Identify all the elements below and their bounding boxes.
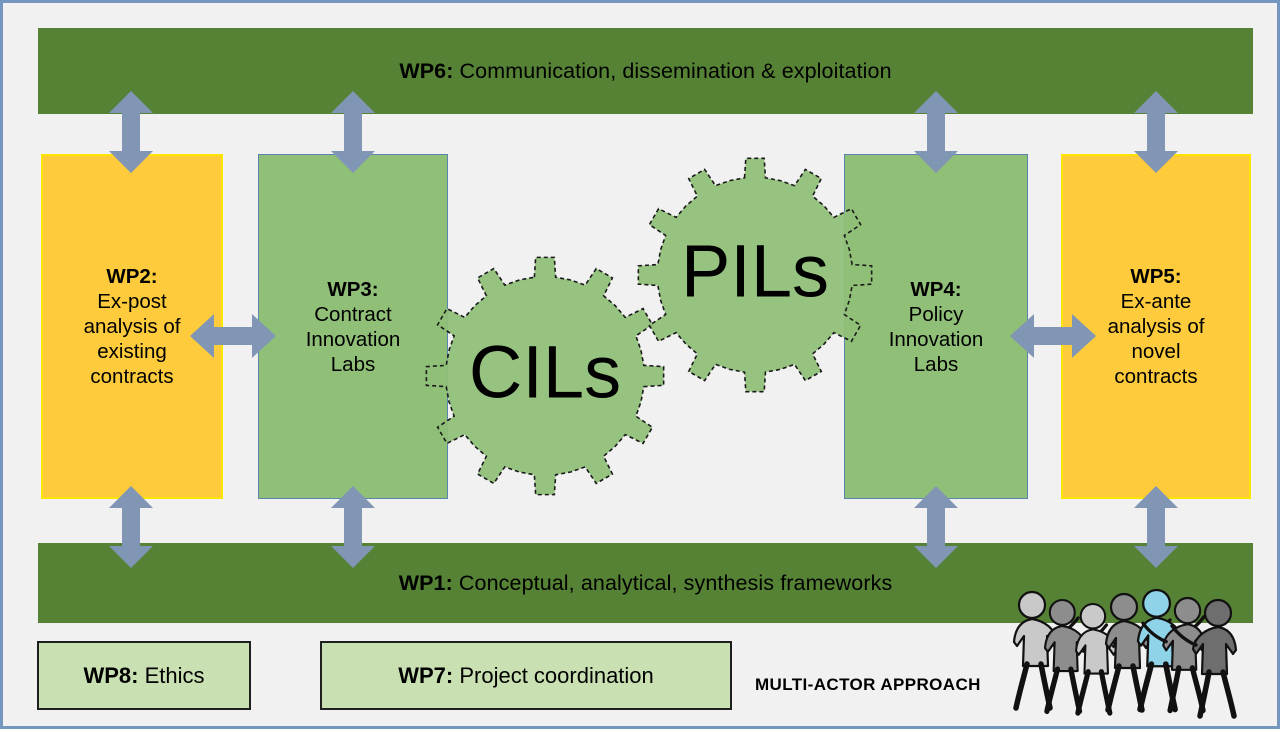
wp7-code: WP7: (398, 663, 453, 688)
wp8-title: Ethics (138, 663, 204, 688)
multi-actor-approach-label: MULTI-ACTOR APPROACH (755, 675, 981, 695)
wp8-code: WP8: (83, 663, 138, 688)
arrow-wp4-wp1 (914, 486, 958, 568)
wp7-box: WP7: Project coordination (320, 641, 732, 710)
arrow-wp4-wp5 (1010, 314, 1096, 358)
wp7-title: Project coordination (453, 663, 654, 688)
people-group-icon (988, 586, 1253, 724)
arrow-wp2-wp3 (190, 314, 276, 358)
wp8-label: WP8: Ethics (83, 663, 204, 689)
arrow-wp6-wp2 (109, 91, 153, 173)
arrow-wp6-wp3 (331, 91, 375, 173)
arrow-wp6-wp4 (914, 91, 958, 173)
arrow-wp6-wp5 (1134, 91, 1178, 173)
arrow-wp2-wp1 (109, 486, 153, 568)
wp8-box: WP8: Ethics (37, 641, 251, 710)
wp7-label: WP7: Project coordination (398, 663, 654, 689)
arrow-wp3-wp1 (331, 486, 375, 568)
diagram-canvas: WP6: Communication, dissemination & expl… (0, 0, 1280, 729)
arrow-wp5-wp1 (1134, 486, 1178, 568)
